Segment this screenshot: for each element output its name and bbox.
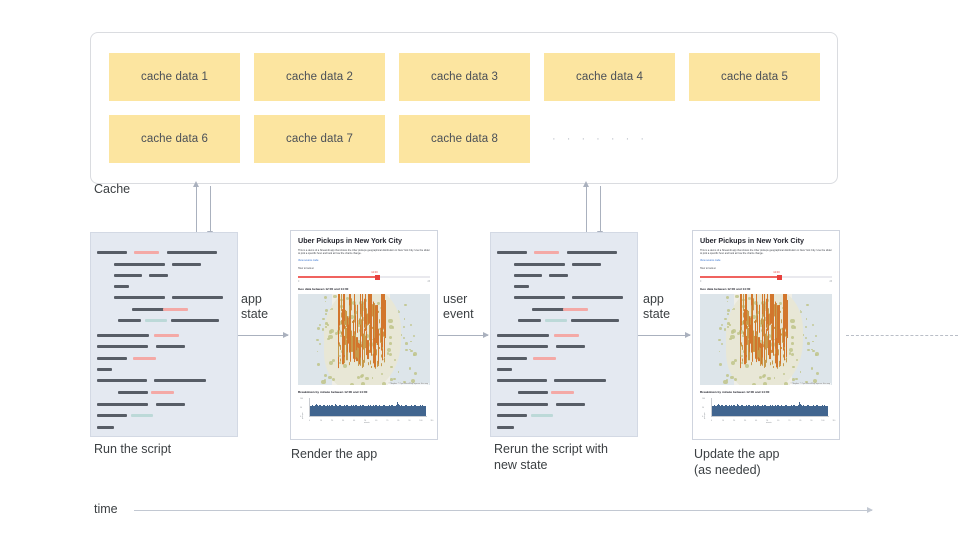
flow-label-line2: state bbox=[643, 307, 670, 322]
map-vegetation bbox=[812, 350, 814, 352]
map-vegetation bbox=[807, 342, 810, 345]
map-building bbox=[376, 309, 377, 343]
chart-x-title: minute bbox=[766, 422, 772, 424]
code-line bbox=[518, 391, 548, 394]
map-building bbox=[378, 310, 379, 312]
code-line bbox=[97, 368, 112, 371]
map-building bbox=[765, 334, 766, 350]
map-vegetation bbox=[791, 336, 794, 339]
map-attribution: © Mapbox © OpenStreetMap Improve this ma… bbox=[790, 383, 831, 385]
chart-x-axis bbox=[309, 416, 427, 417]
map-vegetation bbox=[800, 311, 802, 313]
chart-x-tick: 60 bbox=[375, 420, 377, 422]
map-vegetation bbox=[815, 354, 817, 356]
map-building bbox=[746, 294, 747, 321]
map-building bbox=[757, 304, 758, 315]
slider-endpoints: 023 bbox=[298, 281, 430, 283]
code-line bbox=[154, 379, 206, 382]
chart-x-tick: 100 bbox=[419, 420, 422, 422]
map-vegetation bbox=[726, 379, 728, 381]
map-vegetation bbox=[792, 366, 795, 369]
map-building bbox=[762, 357, 763, 365]
map-vegetation bbox=[329, 361, 333, 365]
code-line bbox=[556, 345, 585, 348]
map-building bbox=[365, 324, 366, 328]
map-vegetation bbox=[767, 377, 770, 380]
map-building bbox=[742, 359, 743, 362]
map-vegetation bbox=[411, 379, 415, 383]
code-line bbox=[571, 319, 619, 322]
slider-label: Hour to look at bbox=[298, 267, 430, 270]
map-building bbox=[345, 328, 346, 344]
map-building bbox=[358, 348, 359, 366]
chart-x-tick: 80 bbox=[397, 420, 399, 422]
flow-label-line2: state bbox=[241, 307, 268, 322]
diagram-canvas: cache data 1cache data 2cache data 3cach… bbox=[0, 0, 960, 540]
cache-chip: cache data 5 bbox=[689, 53, 820, 101]
chart-plot-area bbox=[711, 398, 829, 417]
map-building bbox=[369, 350, 370, 353]
map-vegetation bbox=[325, 326, 326, 327]
map-building bbox=[366, 331, 367, 355]
map-vegetation bbox=[405, 342, 408, 345]
script-panel bbox=[490, 232, 638, 437]
map-building bbox=[362, 360, 363, 367]
map-building bbox=[779, 361, 780, 367]
map-vegetation bbox=[361, 382, 365, 385]
map-building bbox=[374, 308, 375, 316]
flow-arrow bbox=[238, 335, 288, 336]
map-vegetation bbox=[403, 337, 405, 339]
chart-plot-area bbox=[309, 398, 427, 417]
map-vegetation bbox=[409, 349, 411, 351]
map-vegetation bbox=[389, 336, 392, 339]
map-building bbox=[384, 307, 385, 332]
map-caption: Geo data between 12:00 and 14:00 bbox=[700, 287, 832, 291]
map-vegetation bbox=[729, 338, 732, 341]
map-vegetation bbox=[792, 378, 795, 381]
map-vegetation bbox=[805, 326, 807, 328]
map-building bbox=[764, 360, 765, 367]
map-building bbox=[763, 303, 764, 316]
chart-x-tick: 70 bbox=[386, 420, 388, 422]
map-vegetation bbox=[382, 382, 386, 386]
map-vegetation bbox=[388, 319, 392, 323]
chart-x-tick: 90 bbox=[810, 420, 812, 422]
map-vegetation bbox=[727, 309, 730, 312]
map-building bbox=[780, 310, 781, 312]
map-visualization: © Mapbox © OpenStreetMap Improve this ma… bbox=[298, 294, 430, 385]
map-building bbox=[377, 361, 378, 367]
code-line bbox=[572, 296, 623, 299]
map-building bbox=[357, 308, 358, 326]
chart-y-title: pickups bbox=[302, 413, 304, 419]
code-line bbox=[514, 263, 565, 266]
slider-fill bbox=[298, 276, 377, 278]
map-building bbox=[351, 330, 352, 346]
map-building bbox=[364, 349, 365, 362]
code-line bbox=[572, 263, 601, 266]
map-vegetation bbox=[389, 325, 393, 329]
cache-chip: cache data 4 bbox=[544, 53, 675, 101]
map-vegetation bbox=[322, 328, 325, 331]
map-vegetation bbox=[350, 383, 354, 385]
slider-min: 0 bbox=[700, 281, 701, 283]
code-line bbox=[497, 379, 547, 382]
chart-x-tick: 0 bbox=[711, 420, 712, 422]
flow-label: appstate bbox=[241, 292, 268, 323]
map-building bbox=[771, 350, 772, 353]
map-building bbox=[381, 364, 382, 367]
map-building bbox=[768, 308, 769, 315]
slider-value: 12:00 bbox=[371, 271, 378, 274]
code-line bbox=[545, 319, 567, 322]
code-line bbox=[118, 319, 141, 322]
map-vegetation bbox=[331, 308, 333, 310]
map-building bbox=[783, 294, 784, 322]
map-building bbox=[776, 347, 777, 367]
script-panel bbox=[90, 232, 238, 437]
cache-chip: cache data 3 bbox=[399, 53, 530, 101]
chart-x-title: minute bbox=[364, 422, 370, 424]
code-line bbox=[532, 308, 564, 311]
chart-y-tick: 100 bbox=[702, 398, 705, 400]
map-building bbox=[344, 345, 345, 354]
map-vegetation bbox=[343, 364, 347, 368]
code-line bbox=[156, 403, 185, 406]
step-caption: Rerun the script withnew state bbox=[494, 442, 608, 473]
map-vegetation bbox=[327, 338, 330, 341]
cache-chip: cache data 2 bbox=[254, 53, 385, 101]
chart-x-tick: 110 bbox=[430, 420, 433, 422]
chart-x-tick: 20 bbox=[331, 420, 333, 422]
map-building bbox=[355, 304, 356, 315]
code-line bbox=[531, 414, 553, 417]
map-vegetation bbox=[759, 376, 762, 379]
code-line bbox=[549, 274, 568, 277]
map-building bbox=[752, 338, 753, 362]
code-line bbox=[518, 319, 541, 322]
map-building bbox=[778, 309, 779, 343]
chart-x-tick: 40 bbox=[755, 420, 757, 422]
map-building bbox=[784, 327, 785, 361]
map-building bbox=[773, 320, 774, 344]
chart-y-tick: 50 bbox=[300, 407, 302, 409]
code-line bbox=[514, 274, 542, 277]
map-building bbox=[783, 364, 784, 367]
map-building bbox=[381, 294, 382, 322]
code-line bbox=[114, 296, 165, 299]
code-line bbox=[114, 285, 129, 288]
flow-label: userevent bbox=[443, 292, 474, 323]
map-building bbox=[340, 344, 341, 349]
map-vegetation bbox=[815, 335, 817, 337]
step-caption: Render the app bbox=[291, 447, 377, 463]
map-vegetation bbox=[413, 335, 415, 337]
chart-y-tick: 100 bbox=[300, 398, 303, 400]
code-line bbox=[514, 296, 565, 299]
map-vegetation bbox=[805, 337, 807, 339]
map-vegetation bbox=[413, 354, 415, 356]
map-building bbox=[751, 317, 752, 338]
map-building bbox=[742, 344, 743, 349]
map-building bbox=[741, 327, 742, 331]
cache-chip: cache data 6 bbox=[109, 115, 240, 163]
code-line bbox=[97, 251, 127, 254]
chart-bars bbox=[309, 398, 427, 417]
code-line bbox=[554, 379, 606, 382]
map-building bbox=[340, 359, 341, 362]
cache-read-arrow bbox=[210, 186, 211, 232]
map-building bbox=[784, 347, 785, 349]
map-building bbox=[746, 345, 747, 354]
map-building bbox=[751, 362, 752, 366]
chart-x-tick: 30 bbox=[744, 420, 746, 422]
flow-label-line1: app bbox=[643, 292, 670, 307]
flow-label-line2: event bbox=[443, 307, 474, 322]
map-vegetation bbox=[790, 319, 794, 323]
chart-y-tick: 50 bbox=[702, 407, 704, 409]
code-line bbox=[567, 251, 617, 254]
map-building bbox=[754, 321, 755, 323]
cache-ellipsis: · · · · · · · bbox=[552, 115, 648, 163]
chart-x-tick: 60 bbox=[777, 420, 779, 422]
map-building bbox=[764, 294, 765, 322]
code-line bbox=[97, 403, 148, 406]
map-vegetation bbox=[390, 366, 393, 369]
map-building bbox=[746, 357, 747, 363]
code-line bbox=[163, 308, 188, 311]
map-building bbox=[349, 317, 350, 338]
code-line bbox=[497, 345, 548, 348]
map-building bbox=[768, 331, 769, 355]
slider-max: 23 bbox=[427, 281, 430, 283]
map-building bbox=[753, 330, 754, 346]
app-preview: Uber Pickups in New York CityThis is a d… bbox=[290, 230, 438, 440]
cache-label: Cache bbox=[94, 182, 130, 196]
slider-handle[interactable] bbox=[777, 275, 782, 280]
map-vegetation bbox=[735, 295, 739, 299]
code-line bbox=[134, 251, 159, 254]
map-vegetation bbox=[733, 308, 735, 310]
chart-caption: Breakdown by minute between 12:00 and 14… bbox=[298, 390, 430, 394]
chart-x-tick: 0 bbox=[309, 420, 310, 422]
map-vegetation bbox=[784, 382, 788, 386]
map-caption: Geo data between 12:00 and 14:00 bbox=[298, 287, 430, 291]
chart-x-tick: 90 bbox=[408, 420, 410, 422]
map-vegetation bbox=[357, 376, 360, 379]
slider-fill bbox=[700, 276, 779, 278]
app-description: This is a demo of a Streamlit app that s… bbox=[298, 249, 430, 256]
map-vegetation bbox=[811, 349, 813, 351]
cache-chip: cache data 7 bbox=[254, 115, 385, 163]
code-line bbox=[551, 391, 574, 394]
code-line bbox=[97, 345, 148, 348]
map-vegetation bbox=[727, 326, 728, 327]
map-building bbox=[760, 348, 761, 366]
map-building bbox=[748, 311, 749, 315]
map-building bbox=[753, 298, 754, 311]
map-vegetation bbox=[813, 379, 817, 383]
map-building bbox=[759, 308, 760, 326]
map-building bbox=[762, 324, 763, 352]
cache-write-arrow bbox=[586, 186, 587, 232]
map-building bbox=[770, 294, 771, 323]
map-vegetation bbox=[325, 309, 328, 312]
code-line bbox=[167, 251, 217, 254]
map-vegetation bbox=[807, 349, 809, 351]
code-line bbox=[514, 285, 529, 288]
map-building bbox=[384, 336, 385, 338]
code-line bbox=[97, 357, 127, 360]
code-line bbox=[149, 274, 168, 277]
chart-y-axis bbox=[711, 398, 712, 417]
map-building bbox=[784, 299, 785, 325]
map-building bbox=[382, 299, 383, 325]
map-building bbox=[371, 366, 372, 368]
map-building bbox=[371, 320, 372, 344]
chart-y-tick: 0 bbox=[702, 416, 703, 418]
map-vegetation bbox=[724, 328, 727, 331]
map-building bbox=[360, 357, 361, 365]
map-vegetation bbox=[789, 352, 791, 354]
map-vegetation bbox=[333, 295, 337, 299]
chart-y-axis bbox=[309, 398, 310, 417]
code-line bbox=[97, 334, 149, 337]
code-line bbox=[154, 334, 179, 337]
code-line bbox=[118, 391, 148, 394]
flow-label-line1: user bbox=[443, 292, 474, 307]
map-building bbox=[374, 347, 375, 367]
map-building bbox=[767, 324, 768, 328]
map-building bbox=[366, 308, 367, 315]
app-source-link[interactable]: View source code bbox=[700, 259, 832, 262]
app-source-link[interactable]: View source code bbox=[298, 259, 430, 262]
slider-label: Hour to look at bbox=[700, 267, 832, 270]
map-building bbox=[362, 294, 363, 322]
map-building bbox=[368, 294, 369, 323]
map-building bbox=[780, 337, 781, 363]
app-title: Uber Pickups in New York City bbox=[700, 237, 832, 245]
hour-slider[interactable]: 12:00 bbox=[700, 272, 832, 281]
chart-x-tick: 30 bbox=[342, 420, 344, 422]
map-building bbox=[355, 344, 356, 359]
map-visualization: © Mapbox © OpenStreetMap Improve this ma… bbox=[700, 294, 832, 385]
code-line bbox=[534, 251, 559, 254]
map-building bbox=[360, 324, 361, 352]
code-line bbox=[497, 403, 548, 406]
map-building bbox=[749, 316, 750, 352]
hour-slider[interactable]: 12:00 bbox=[298, 272, 430, 281]
map-building bbox=[766, 349, 767, 362]
map-vegetation bbox=[325, 313, 327, 315]
map-building bbox=[776, 308, 777, 316]
slider-endpoints: 023 bbox=[700, 281, 832, 283]
chart-bars bbox=[711, 398, 829, 417]
time-axis-line bbox=[134, 510, 872, 511]
code-line bbox=[556, 403, 585, 406]
map-vegetation bbox=[729, 324, 731, 326]
step-caption: Update the app(as needed) bbox=[694, 447, 780, 478]
map-vegetation bbox=[796, 359, 798, 361]
map-building bbox=[778, 350, 779, 356]
chart-x-tick: 70 bbox=[788, 420, 790, 422]
map-building bbox=[352, 321, 353, 323]
map-vegetation bbox=[317, 363, 320, 366]
chart-x-axis bbox=[711, 416, 829, 417]
map-building bbox=[771, 325, 772, 340]
code-line bbox=[554, 334, 579, 337]
map-building bbox=[382, 347, 383, 349]
code-line bbox=[563, 308, 588, 311]
cache-write-arrow bbox=[196, 186, 197, 232]
chart-x-tick: 40 bbox=[353, 420, 355, 422]
map-attribution: © Mapbox © OpenStreetMap Improve this ma… bbox=[388, 383, 429, 385]
code-line bbox=[132, 308, 164, 311]
map-vegetation bbox=[398, 311, 400, 313]
map-building bbox=[786, 307, 787, 332]
code-line bbox=[97, 426, 114, 429]
slider-max: 23 bbox=[829, 281, 832, 283]
slider-handle[interactable] bbox=[375, 275, 380, 280]
map-vegetation bbox=[405, 349, 407, 351]
app-title: Uber Pickups in New York City bbox=[298, 237, 430, 245]
map-building bbox=[338, 344, 339, 355]
map-vegetation bbox=[727, 313, 729, 315]
map-vegetation bbox=[327, 324, 329, 326]
map-building bbox=[376, 350, 377, 356]
map-building bbox=[747, 328, 748, 344]
chart-x-tick: 100 bbox=[821, 420, 824, 422]
flow-label-line1: app bbox=[241, 292, 268, 307]
code-line bbox=[97, 414, 127, 417]
map-building bbox=[381, 355, 382, 358]
code-line bbox=[171, 319, 219, 322]
code-line bbox=[97, 379, 147, 382]
map-building bbox=[368, 363, 369, 366]
map-building bbox=[347, 316, 348, 352]
map-building bbox=[350, 338, 351, 362]
chart-caption: Breakdown by minute between 12:00 and 14… bbox=[700, 390, 832, 394]
chart-x-tick: 10 bbox=[320, 420, 322, 422]
chart-visualization: 0102030405060708090100110050100minutepic… bbox=[700, 397, 832, 423]
map-building bbox=[757, 344, 758, 359]
map-building bbox=[786, 357, 787, 363]
map-building bbox=[370, 360, 371, 365]
map-vegetation bbox=[791, 325, 795, 329]
time-axis-label: time bbox=[94, 502, 118, 516]
chart-y-tick: 0 bbox=[300, 416, 301, 418]
chart-y-title: pickups bbox=[704, 413, 706, 419]
map-building bbox=[369, 325, 370, 340]
map-vegetation bbox=[763, 382, 767, 385]
map-vegetation bbox=[752, 383, 756, 385]
map-building bbox=[349, 362, 350, 366]
map-vegetation bbox=[403, 326, 405, 328]
map-building bbox=[363, 334, 364, 350]
map-building bbox=[344, 357, 345, 363]
cache-chip: cache data 8 bbox=[399, 115, 530, 163]
map-building bbox=[339, 327, 340, 331]
map-building bbox=[786, 336, 787, 338]
code-line bbox=[172, 296, 223, 299]
chart-x-tick: 10 bbox=[722, 420, 724, 422]
map-vegetation bbox=[719, 363, 722, 366]
code-line bbox=[497, 414, 527, 417]
code-line bbox=[145, 319, 167, 322]
map-vegetation bbox=[387, 352, 389, 354]
cache-container: cache data 1cache data 2cache data 3cach… bbox=[90, 32, 838, 184]
